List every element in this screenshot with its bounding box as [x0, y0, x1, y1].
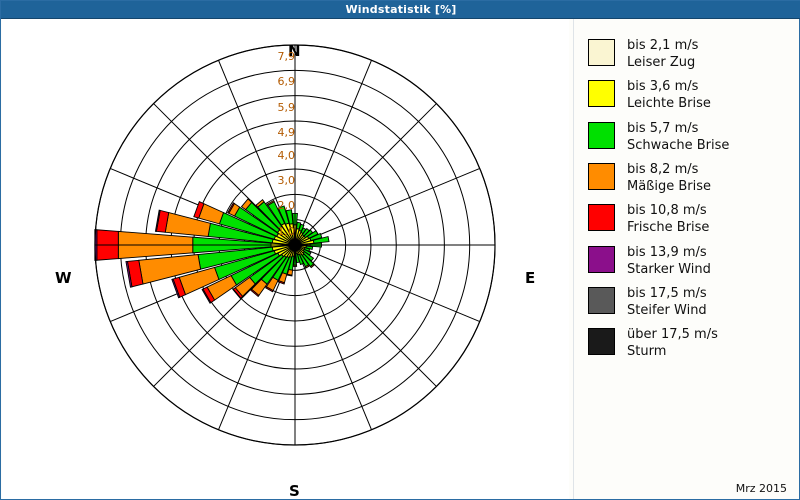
legend-color-swatch — [588, 246, 615, 273]
legend-color-swatch — [588, 163, 615, 190]
legend-color-swatch — [588, 80, 615, 107]
windrose-window: Windstatistik [%] N E S W 1,02,03,04,04,… — [0, 0, 800, 500]
legend-item[interactable]: bis 17,5 m/sSteifer Wind — [582, 285, 799, 319]
radial-tick-label: 2,0 — [269, 200, 295, 211]
windrose-chart — [2, 19, 569, 499]
legend-name-label: Leichte Brise — [627, 95, 711, 112]
legend-speed-label: bis 17,5 m/s — [627, 286, 707, 301]
windrose-petals — [95, 199, 329, 303]
legend-item-text: bis 3,6 m/sLeichte Brise — [627, 78, 711, 112]
window-title: Windstatistik [%] — [345, 4, 456, 15]
legend-item-text: über 17,5 m/sSturm — [627, 326, 718, 360]
legend-speed-label: bis 10,8 m/s — [627, 203, 707, 218]
legend-item[interactable]: bis 10,8 m/sFrische Brise — [582, 202, 799, 236]
legend-name-label: Leiser Zug — [627, 54, 698, 71]
legend-item-text: bis 8,2 m/sMäßige Brise — [627, 161, 711, 195]
radial-tick-label: 3,0 — [269, 175, 295, 186]
legend-color-swatch — [588, 122, 615, 149]
radial-tick-label: 1,0 — [269, 226, 295, 237]
footer-bar: Mrz 2015 — [2, 478, 799, 498]
legend-item-text: bis 17,5 m/sSteifer Wind — [627, 285, 707, 319]
legend-item-text: bis 5,7 m/sSchwache Brise — [627, 120, 729, 154]
windrose-plot-area: N E S W 1,02,03,04,04,95,96,97,9 — [2, 19, 569, 499]
legend-speed-label: bis 2,1 m/s — [627, 38, 698, 53]
footer-date: Mrz 2015 — [736, 482, 787, 495]
legend-item-text: bis 2,1 m/sLeiser Zug — [627, 37, 698, 71]
legend-speed-label: bis 13,9 m/s — [627, 245, 707, 260]
legend-item[interactable]: bis 5,7 m/sSchwache Brise — [582, 120, 799, 154]
legend-speed-label: über 17,5 m/s — [627, 327, 718, 342]
compass-label-west: W — [55, 271, 72, 286]
legend-speed-label: bis 8,2 m/s — [627, 162, 698, 177]
legend-speed-label: bis 3,6 m/s — [627, 79, 698, 94]
compass-label-east: E — [525, 271, 535, 286]
legend-item[interactable]: bis 8,2 m/sMäßige Brise — [582, 161, 799, 195]
legend-item[interactable]: über 17,5 m/sSturm — [582, 326, 799, 360]
radial-tick-label: 4,9 — [269, 127, 295, 138]
legend-panel: bis 2,1 m/sLeiser Zugbis 3,6 m/sLeichte … — [573, 19, 799, 499]
legend-color-swatch — [588, 204, 615, 231]
legend-color-swatch — [588, 39, 615, 66]
radial-tick-label: 6,9 — [269, 76, 295, 87]
legend-color-swatch — [588, 287, 615, 314]
legend-name-label: Schwache Brise — [627, 137, 729, 154]
legend-item-text: bis 10,8 m/sFrische Brise — [627, 202, 709, 236]
legend-name-label: Mäßige Brise — [627, 178, 711, 195]
radial-tick-label: 4,0 — [269, 150, 295, 161]
legend-name-label: Steifer Wind — [627, 302, 707, 319]
legend-item-text: bis 13,9 m/sStarker Wind — [627, 244, 711, 278]
legend-name-label: Starker Wind — [627, 261, 711, 278]
legend-name-label: Sturm — [627, 343, 718, 360]
legend-item[interactable]: bis 2,1 m/sLeiser Zug — [582, 37, 799, 71]
legend-item[interactable]: bis 13,9 m/sStarker Wind — [582, 244, 799, 278]
radial-tick-label: 7,9 — [269, 51, 295, 62]
window-title-bar: Windstatistik [%] — [1, 1, 800, 19]
radial-tick-label: 5,9 — [269, 102, 295, 113]
legend-speed-label: bis 5,7 m/s — [627, 121, 698, 136]
legend-name-label: Frische Brise — [627, 219, 709, 236]
legend-color-swatch — [588, 328, 615, 355]
legend-item[interactable]: bis 3,6 m/sLeichte Brise — [582, 78, 799, 112]
